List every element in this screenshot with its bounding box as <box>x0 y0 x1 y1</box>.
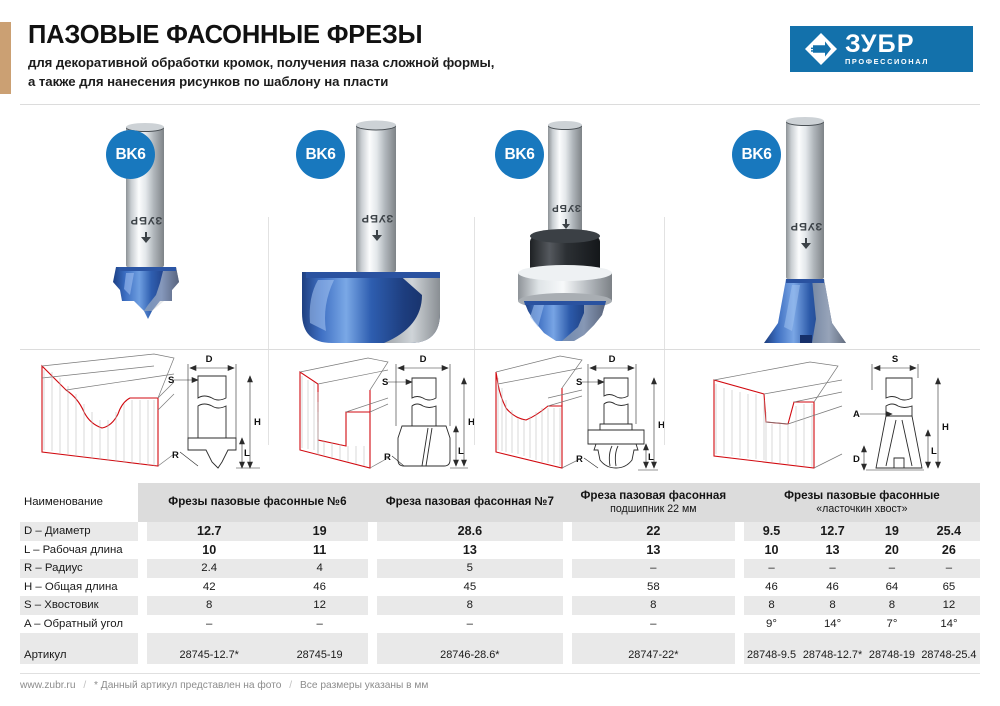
col-header-name: Наименование <box>20 483 138 522</box>
cell-value: – <box>377 615 563 634</box>
cell-value: 12.7 <box>147 522 271 541</box>
cell-value: 2.4 <box>147 559 271 578</box>
cell-value: 20 <box>866 541 918 560</box>
row-label: R – Радиус <box>20 559 138 578</box>
page-footer: www.zubr.ru / * Данный артикул представл… <box>20 680 980 691</box>
cell-value: 22 <box>572 522 735 541</box>
title-block: ПАЗОВЫЕ ФАСОННЫЕ ФРЕЗЫ для декоративной … <box>28 22 728 91</box>
row-label: L – Рабочая длина <box>20 541 138 560</box>
cell-value: 46 <box>744 578 799 597</box>
badge-bk6-1: BK6 <box>106 130 155 179</box>
cell-value: 8 <box>377 596 563 615</box>
cell-value: – <box>572 559 735 578</box>
table-row: D – Диаметр 12.7 19 28.6 22 9.5 12.7 19 … <box>20 522 980 541</box>
table-row: A – Обратный угол – – – – 9° 14° 7° 14° <box>20 615 980 634</box>
cell-value: 8 <box>866 596 918 615</box>
product-photo-4: BK6 ЗУБР <box>700 105 910 345</box>
page-subtitle-line-2: а также для нанесения рисунков по шаблон… <box>28 73 728 92</box>
svg-text:R: R <box>576 454 583 465</box>
table-row: R – Радиус 2.4 4 5 – – – – – <box>20 559 980 578</box>
cell-value: 8 <box>572 596 735 615</box>
cell-value: 10 <box>744 541 799 560</box>
gap-cell <box>735 483 744 522</box>
svg-text:L: L <box>244 448 250 459</box>
svg-text:S: S <box>382 377 388 388</box>
page-header: ПАЗОВЫЕ ФАСОННЫЕ ФРЕЗЫ для декоративной … <box>0 0 1000 104</box>
cell-value: 8 <box>799 596 866 615</box>
router-bit-illustration-1: ЗУБР <box>60 105 268 345</box>
group-title-1: Фрезы пазовые фасонные №6 <box>168 495 346 508</box>
svg-text:H: H <box>942 422 949 433</box>
product-photo-2: BK6 ЗУБР <box>272 105 472 345</box>
footer-separator-1: / <box>83 680 86 691</box>
group-header-1: Фрезы пазовые фасонные №6 <box>147 483 368 522</box>
arrow-in-diamond-icon <box>804 32 838 66</box>
cell-value: 5 <box>377 559 563 578</box>
svg-text:D: D <box>853 454 860 465</box>
cell-value: 12 <box>918 596 980 615</box>
sku-value: 28747-22* <box>572 633 735 664</box>
badge-bk6-4: BK6 <box>732 130 781 179</box>
sku-value: 28748-19 <box>866 633 918 664</box>
group-subtitle-3: подшипник 22 мм <box>572 503 735 516</box>
cell-value: 8 <box>147 596 271 615</box>
sku-value: 28746-28.6* <box>377 633 563 664</box>
footer-divider <box>20 673 980 674</box>
cell-value: 13 <box>572 541 735 560</box>
cell-value: – <box>866 559 918 578</box>
cell-value: 13 <box>799 541 866 560</box>
cell-value: – <box>918 559 980 578</box>
drawing-profile-bearing: D S H L R <box>488 350 664 478</box>
cell-value: 14° <box>799 615 866 634</box>
cell-value: 45 <box>377 578 563 597</box>
gap-cell <box>138 483 147 522</box>
svg-text:ЗУБР: ЗУБР <box>790 220 823 232</box>
row-label: H – Общая длина <box>20 578 138 597</box>
svg-text:D: D <box>206 354 213 365</box>
sku-value: 28748-25.4 <box>918 633 980 664</box>
cell-value: – <box>147 615 271 634</box>
product-photo-row: BK6 <box>0 105 1000 345</box>
drawing-profile-7: D S H L R <box>292 350 474 478</box>
logo-brand-text: ЗУБР <box>845 32 929 57</box>
table-body: D – Диаметр 12.7 19 28.6 22 9.5 12.7 19 … <box>20 522 980 664</box>
cell-value: – <box>744 559 799 578</box>
group-title-4: Фрезы пазовые фасонные <box>784 489 940 502</box>
product-photo-1: BK6 <box>60 105 268 345</box>
technical-drawing-row: D S H L R <box>0 350 1000 478</box>
drawing-cell-3: D S H L R <box>488 350 664 478</box>
cell-value: 25.4 <box>918 522 980 541</box>
cell-value: 46 <box>799 578 866 597</box>
badge-bk6-2: BK6 <box>296 130 345 179</box>
cell-value: 26 <box>918 541 980 560</box>
drawing-cell-4: S A H L D <box>690 350 990 478</box>
cell-value: 8 <box>744 596 799 615</box>
row-label-sku: Артикул <box>20 633 138 664</box>
router-bit-illustration-4: ЗУБР <box>700 105 910 345</box>
table-header-row: Наименование Фрезы пазовые фасонные №6 Ф… <box>20 483 980 522</box>
svg-text:ЗУБР: ЗУБР <box>551 202 581 213</box>
svg-text:S: S <box>576 377 582 388</box>
specification-table: Наименование Фрезы пазовые фасонные №6 Ф… <box>20 483 980 664</box>
svg-text:L: L <box>648 452 654 463</box>
row-label: S – Хвостовик <box>20 596 138 615</box>
cell-value: 58 <box>572 578 735 597</box>
product-photo-3: BK6 <box>478 105 664 345</box>
footer-note-units: Все размеры указаны в мм <box>300 680 428 691</box>
footer-separator-2: / <box>289 680 292 691</box>
accent-bar <box>0 22 11 94</box>
group-header-3: Фреза пазовая фасонная подшипник 22 мм <box>572 483 735 522</box>
cell-value: 28.6 <box>377 522 563 541</box>
cell-value: 13 <box>377 541 563 560</box>
cell-value: 12.7 <box>799 522 866 541</box>
cell-value: – <box>799 559 866 578</box>
cell-value: 19 <box>866 522 918 541</box>
cell-value: 46 <box>271 578 367 597</box>
cell-value: 10 <box>147 541 271 560</box>
svg-text:H: H <box>468 417 474 428</box>
cell-value: 12 <box>271 596 367 615</box>
svg-text:H: H <box>254 417 261 428</box>
svg-text:S: S <box>168 375 174 386</box>
cell-value: 9° <box>744 615 799 634</box>
badge-bk6-3: BK6 <box>495 130 544 179</box>
drawing-profile-6: D S H L R <box>22 350 268 478</box>
svg-text:L: L <box>931 446 937 457</box>
svg-text:ЗУБР: ЗУБР <box>130 214 163 226</box>
svg-text:D: D <box>609 354 616 365</box>
sku-value: 28748-9.5 <box>744 633 799 664</box>
row-label: A – Обратный угол <box>20 615 138 634</box>
cell-value: – <box>572 615 735 634</box>
svg-text:A: A <box>853 409 860 420</box>
sku-value: 28745-19 <box>271 633 367 664</box>
sku-value: 28748-12.7* <box>799 633 866 664</box>
cell-value: 7° <box>866 615 918 634</box>
cell-value: 9.5 <box>744 522 799 541</box>
drawing-cell-1: D S H L R <box>22 350 268 478</box>
svg-text:H: H <box>658 420 664 431</box>
drawing-profile-dovetail: S A H L D <box>690 350 990 478</box>
cell-value: 42 <box>147 578 271 597</box>
cell-value: 19 <box>271 522 367 541</box>
group-title-2: Фреза пазовая фасонная №7 <box>386 495 554 508</box>
brand-logo: ЗУБР ПРОФЕССИОНАЛ <box>790 26 973 72</box>
table-row: L – Рабочая длина 10 11 13 13 10 13 20 2… <box>20 541 980 560</box>
footer-site[interactable]: www.zubr.ru <box>20 680 75 691</box>
sku-value: 28745-12.7* <box>147 633 271 664</box>
cell-value: 4 <box>271 559 367 578</box>
gap-cell <box>368 483 377 522</box>
svg-text:R: R <box>172 450 179 461</box>
cell-value: 65 <box>918 578 980 597</box>
cell-value: 14° <box>918 615 980 634</box>
logo-sub-text: ПРОФЕССИОНАЛ <box>845 58 929 65</box>
group-header-2: Фреза пазовая фасонная №7 <box>377 483 563 522</box>
group-header-4: Фрезы пазовые фасонные «ласточкин хвост» <box>744 483 980 522</box>
cell-value: – <box>271 615 367 634</box>
group-title-3: Фреза пазовая фасонная <box>581 489 727 502</box>
group-subtitle-4: «ласточкин хвост» <box>744 503 980 516</box>
svg-text:L: L <box>458 446 464 457</box>
footer-note-photo: * Данный артикул представлен на фото <box>94 680 281 691</box>
row-label: D – Диаметр <box>20 522 138 541</box>
table-row-sku: Артикул 28745-12.7* 28745-19 28746-28.6*… <box>20 633 980 664</box>
svg-text:S: S <box>892 354 898 365</box>
svg-text:ЗУБР: ЗУБР <box>361 212 394 224</box>
page-subtitle-line-1: для декоративной обработки кромок, получ… <box>28 54 728 73</box>
page-title: ПАЗОВЫЕ ФАСОННЫЕ ФРЕЗЫ <box>28 22 728 49</box>
cell-value: 64 <box>866 578 918 597</box>
table-row: H – Общая длина 42 46 45 58 46 46 64 65 <box>20 578 980 597</box>
svg-text:R: R <box>384 452 391 463</box>
gap-cell <box>563 483 572 522</box>
cell-value: 11 <box>271 541 367 560</box>
table-row: S – Хвостовик 8 12 8 8 8 8 8 12 <box>20 596 980 615</box>
drawing-cell-2: D S H L R <box>292 350 474 478</box>
svg-text:D: D <box>420 354 427 365</box>
